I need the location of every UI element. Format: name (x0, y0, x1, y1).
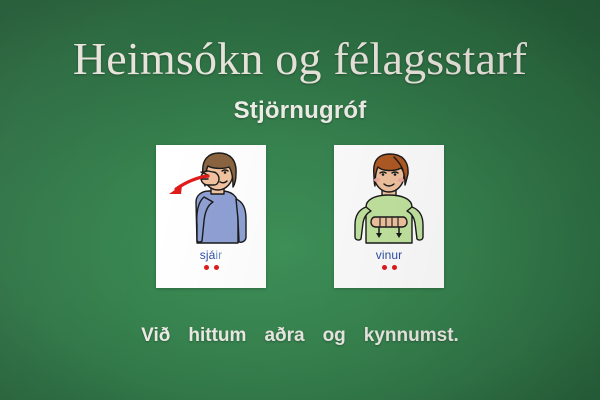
caption-word: og (323, 324, 346, 348)
card-dots-vinur (382, 265, 397, 270)
caption-sentence: Viðhittumaðraogkynnumst. (0, 324, 600, 348)
person-looking-sign-icon (156, 145, 266, 249)
card-label-vinur: vinur (376, 249, 403, 262)
card-label-segment-a: vinur (376, 248, 403, 262)
pictogram-card-row: sjáir (0, 145, 600, 290)
page-subtitle: Stjörnugróf (0, 97, 600, 125)
card-dots-sjair (204, 265, 219, 270)
pictogram-card-vinur[interactable]: vinur (334, 145, 444, 288)
card-label-sjair: sjáir (200, 249, 223, 262)
red-dot (204, 265, 209, 270)
card-label-segment-a: sjá (200, 248, 216, 262)
red-dot (392, 265, 397, 270)
caption-word: Við (141, 324, 170, 348)
slide-canvas: Heimsókn og félagsstarf Stjörnugróf (0, 0, 600, 400)
red-dot (382, 265, 387, 270)
person-friend-sign-icon (334, 145, 444, 249)
caption-word: hittum (188, 324, 246, 348)
pictogram-card-sjair[interactable]: sjáir (156, 145, 266, 288)
page-title: Heimsókn og félagsstarf (0, 33, 600, 85)
card-label-segment-b: ir (215, 248, 222, 262)
red-dot (214, 265, 219, 270)
caption-word: aðra (264, 324, 304, 348)
caption-word: kynnumst. (364, 324, 459, 348)
